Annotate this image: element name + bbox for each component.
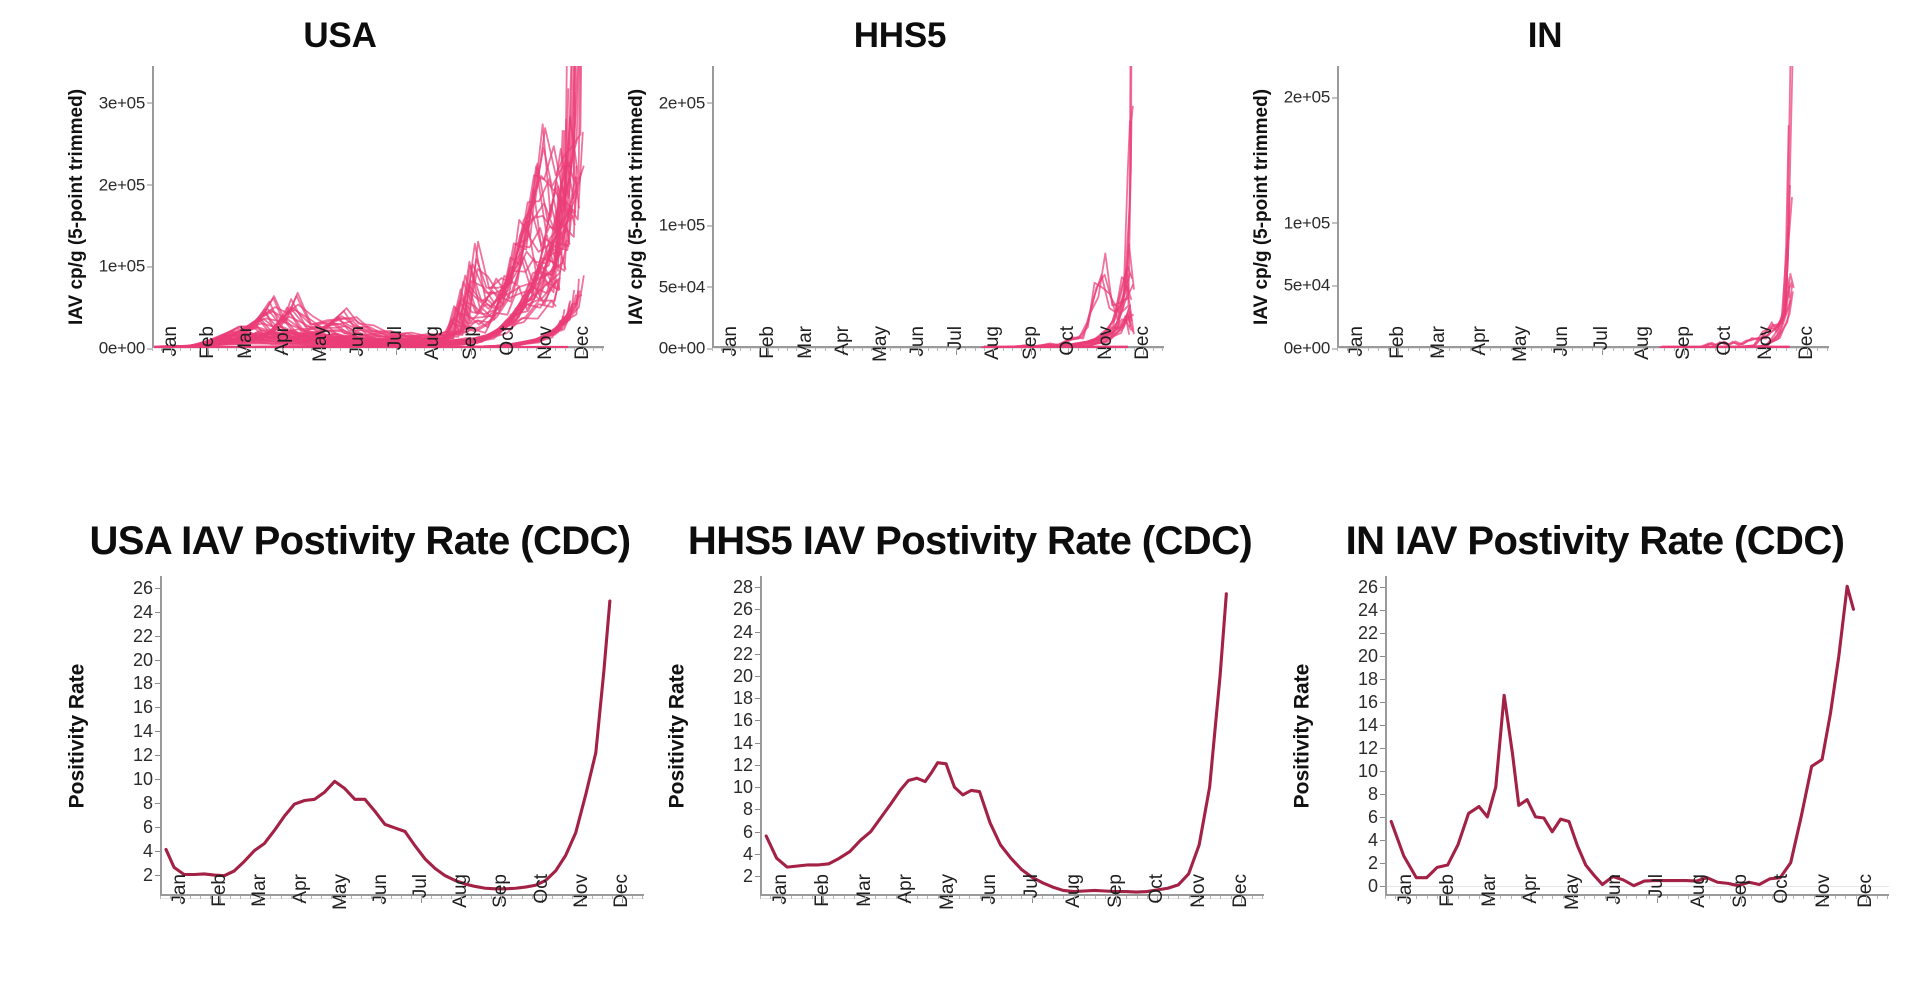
- x-tick-dec: Dec: [568, 356, 598, 382]
- x-minor-tick: [969, 896, 970, 899]
- x-tick-may: May: [306, 356, 336, 382]
- x-tick-label: May: [306, 326, 332, 386]
- positivity-rate-line: [166, 601, 610, 889]
- x-minor-tick: [1012, 348, 1013, 351]
- x-minor-tick: [1078, 348, 1079, 351]
- x-tick-jan: Jan: [1342, 356, 1372, 382]
- x-minor-tick: [1542, 896, 1543, 899]
- y-tick-label: 18: [733, 689, 760, 707]
- x-minor-tick: [1835, 896, 1836, 899]
- chart-title-hhs5-pos: HHS5 IAV Postivity Rate (CDC): [660, 520, 1280, 576]
- x-minor-tick: [433, 348, 434, 351]
- x-minor-tick: [632, 896, 633, 899]
- x-minor-tick: [1388, 348, 1389, 351]
- x-minor-tick: [959, 896, 960, 899]
- x-tick-aug: Aug: [446, 904, 476, 930]
- spaghetti-trace: [155, 66, 572, 347]
- x-minor-tick: [491, 896, 492, 899]
- x-tick-aug: Aug: [1628, 356, 1658, 382]
- x-minor-tick: [1657, 896, 1658, 899]
- y-tick-label: 2: [143, 866, 160, 884]
- x-minor-tick: [1615, 896, 1616, 899]
- x-minor-tick: [937, 348, 938, 351]
- plot-area-usa-ww: IAV cp/g (5-point trimmed)0e+001e+052e+0…: [60, 66, 620, 448]
- x-tick-label: Jul: [1642, 874, 1668, 934]
- x-minor-tick: [1735, 348, 1736, 351]
- y-tick-label: 5e+04: [1284, 277, 1337, 294]
- x-tick-label: Feb: [1383, 326, 1409, 386]
- x-minor-tick: [152, 348, 153, 351]
- x-minor-tick: [612, 896, 613, 899]
- x-tick-sep: Sep: [486, 904, 516, 930]
- axes-in-ww: [1337, 66, 1829, 348]
- x-tick-mar: Mar: [1424, 356, 1454, 382]
- x-minor-tick: [731, 348, 732, 351]
- y-tick-label: 16: [1358, 693, 1385, 711]
- x-minor-tick: [1500, 896, 1501, 899]
- x-tick-label: Mar: [850, 874, 876, 934]
- data-lines-hhs5-pos: [762, 576, 1264, 896]
- x-minor-tick: [341, 896, 342, 899]
- x-tick-mar: Mar: [245, 904, 275, 930]
- x-minor-tick: [1720, 896, 1721, 899]
- x-minor-tick: [1552, 896, 1553, 899]
- x-tick-may: May: [326, 904, 356, 930]
- x-minor-tick: [381, 896, 382, 899]
- x-minor-tick: [471, 896, 472, 899]
- y-tick-label: 6: [1368, 808, 1385, 826]
- x-tick-label: Apr: [828, 326, 854, 386]
- x-minor-tick: [1115, 348, 1116, 351]
- x-minor-tick: [1116, 896, 1117, 899]
- y-axis-ticks-usa-pos: 2468101214161820222426: [60, 576, 160, 896]
- x-tick-label: Apr: [1465, 326, 1491, 386]
- x-minor-tick: [1782, 896, 1783, 899]
- x-minor-tick: [161, 348, 162, 351]
- x-minor-tick: [1162, 348, 1163, 351]
- x-minor-tick: [1796, 348, 1797, 351]
- x-minor-tick: [552, 896, 553, 899]
- x-axis-ticks-in-ww: JanFebMarAprMayJunJulAugSepOctNovDec: [1337, 348, 1827, 418]
- data-lines-in-ww: [1339, 66, 1829, 348]
- x-tick-jun: Jun: [903, 356, 933, 382]
- x-minor-tick: [1357, 348, 1358, 351]
- x-minor-tick: [1776, 348, 1777, 351]
- x-tick-label: Nov: [1751, 326, 1777, 386]
- x-minor-tick: [1602, 348, 1603, 351]
- x-minor-tick: [311, 348, 312, 351]
- x-minor-tick: [1252, 896, 1253, 899]
- y-tick-label: 0: [1368, 877, 1385, 895]
- y-tick-label: 8: [743, 800, 760, 818]
- x-minor-tick: [227, 348, 228, 351]
- data-lines-usa-pos: [162, 576, 644, 896]
- x-minor-tick: [834, 348, 835, 351]
- x-tick-feb: Feb: [753, 356, 783, 382]
- x-tick-label: Oct: [1142, 874, 1168, 934]
- x-minor-tick: [622, 896, 623, 899]
- y-tick-label: 12: [133, 746, 160, 764]
- x-minor-tick: [311, 896, 312, 899]
- x-tick-label: Mar: [231, 326, 257, 386]
- x-tick-feb: Feb: [1383, 356, 1413, 382]
- x-minor-tick: [1551, 348, 1552, 351]
- x-minor-tick: [1573, 896, 1574, 899]
- x-minor-tick: [1439, 348, 1440, 351]
- x-tick-apr: Apr: [1465, 356, 1495, 382]
- x-tick-label: Sep: [1101, 874, 1127, 934]
- chart-title-usa-pos: USA IAV Postivity Rate (CDC): [60, 520, 660, 576]
- x-minor-tick: [532, 896, 533, 899]
- x-minor-tick: [1458, 896, 1459, 899]
- x-minor-tick: [1021, 896, 1022, 899]
- x-minor-tick: [1490, 348, 1491, 351]
- x-minor-tick: [1395, 896, 1396, 899]
- x-minor-tick: [160, 896, 161, 899]
- x-minor-tick: [371, 896, 372, 899]
- x-tick-label: Mar: [245, 874, 271, 934]
- x-minor-tick: [1793, 896, 1794, 899]
- x-minor-tick: [411, 896, 412, 899]
- x-minor-tick: [642, 896, 643, 899]
- x-minor-tick: [1694, 348, 1695, 351]
- x-minor-tick: [1241, 896, 1242, 899]
- x-minor-tick: [890, 348, 891, 351]
- x-minor-tick: [1594, 896, 1595, 899]
- x-minor-tick: [200, 896, 201, 899]
- x-minor-tick: [302, 348, 303, 351]
- y-tick-label: 22: [733, 645, 760, 663]
- x-minor-tick: [1563, 896, 1564, 899]
- x-minor-tick: [1126, 896, 1127, 899]
- x-tick-label: May: [1506, 326, 1532, 386]
- x-minor-tick: [1147, 896, 1148, 899]
- x-tick-dec: Dec: [1226, 904, 1256, 930]
- x-tick-may: May: [1558, 904, 1588, 930]
- x-tick-jul: Jul: [1017, 904, 1047, 930]
- x-tick-jun: Jun: [1547, 356, 1577, 382]
- y-tick-label: 26: [1358, 578, 1385, 596]
- y-tick-label: 16: [733, 711, 760, 729]
- x-minor-tick: [1562, 348, 1563, 351]
- x-minor-tick: [1827, 348, 1828, 351]
- x-minor-tick: [896, 896, 897, 899]
- x-tick-jun: Jun: [343, 356, 373, 382]
- x-tick-label: Jul: [1017, 874, 1043, 934]
- x-tick-feb: Feb: [1433, 904, 1463, 930]
- spaghetti-trace: [163, 66, 580, 347]
- x-minor-tick: [405, 348, 406, 351]
- x-minor-tick: [1347, 348, 1348, 351]
- x-minor-tick: [825, 348, 826, 351]
- plot-area-hhs5-pos: Positivity Rate246810121416182022242628J…: [660, 576, 1280, 991]
- x-tick-jun: Jun: [366, 904, 396, 930]
- chart-panel-usa-pos: USA IAV Postivity Rate (CDC)Positivity R…: [60, 520, 660, 990]
- x-minor-tick: [1042, 896, 1043, 899]
- x-minor-tick: [349, 348, 350, 351]
- chart-title-in-ww: IN: [1245, 18, 1845, 66]
- x-tick-mar: Mar: [791, 356, 821, 382]
- spaghetti-trace: [154, 88, 568, 347]
- x-minor-tick: [1756, 348, 1757, 351]
- x-tick-label: Apr: [1516, 874, 1542, 934]
- x-minor-tick: [1398, 348, 1399, 351]
- x-tick-jan: Jan: [716, 356, 746, 382]
- x-minor-tick: [984, 348, 985, 351]
- x-minor-tick: [1469, 896, 1470, 899]
- x-minor-tick: [1605, 896, 1606, 899]
- x-minor-tick: [236, 348, 237, 351]
- x-minor-tick: [778, 348, 779, 351]
- x-minor-tick: [806, 348, 807, 351]
- y-tick-label: 5e+04: [659, 278, 712, 295]
- x-minor-tick: [1125, 348, 1126, 351]
- x-minor-tick: [1715, 348, 1716, 351]
- spaghetti-trace: [1662, 185, 1790, 347]
- x-tick-oct: Oct: [1053, 356, 1083, 382]
- positivity-rate-line: [766, 594, 1226, 892]
- x-tick-label: Aug: [446, 874, 472, 934]
- y-tick-label: 28: [733, 578, 760, 596]
- x-minor-tick: [843, 348, 844, 351]
- x-minor-tick: [1449, 348, 1450, 351]
- x-minor-tick: [396, 348, 397, 351]
- x-tick-nov: Nov: [1751, 356, 1781, 382]
- x-tick-jul: Jul: [406, 904, 436, 930]
- x-axis-ticks-hhs5-ww: JanFebMarAprMayJunJulAugSepOctNovDec: [712, 348, 1162, 418]
- x-minor-tick: [1803, 896, 1804, 899]
- x-minor-tick: [1084, 896, 1085, 899]
- x-minor-tick: [1866, 896, 1867, 899]
- x-minor-tick: [250, 896, 251, 899]
- x-minor-tick: [875, 896, 876, 899]
- x-minor-tick: [844, 896, 845, 899]
- x-minor-tick: [260, 896, 261, 899]
- axes-hhs5-ww: [712, 66, 1164, 348]
- x-tick-apr: Apr: [1516, 904, 1546, 930]
- x-minor-tick: [1408, 348, 1409, 351]
- x-tick-label: Feb: [808, 874, 834, 934]
- x-minor-tick: [1448, 896, 1449, 899]
- x-minor-tick: [1068, 348, 1069, 351]
- x-minor-tick: [542, 896, 543, 899]
- x-minor-tick: [1189, 896, 1190, 899]
- x-tick-label: Jul: [406, 874, 432, 934]
- x-minor-tick: [1636, 896, 1637, 899]
- x-minor-tick: [361, 896, 362, 899]
- x-minor-tick: [368, 348, 369, 351]
- x-tick-oct: Oct: [527, 904, 557, 930]
- spaghetti-trace: [1663, 197, 1792, 347]
- x-minor-tick: [946, 348, 947, 351]
- x-tick-jul: Jul: [941, 356, 971, 382]
- x-minor-tick: [1623, 348, 1624, 351]
- x-tick-label: Dec: [1792, 326, 1818, 386]
- x-minor-tick: [401, 896, 402, 899]
- spaghetti-trace: [160, 66, 575, 346]
- x-minor-tick: [1050, 348, 1051, 351]
- x-minor-tick: [1684, 348, 1685, 351]
- x-minor-tick: [1521, 348, 1522, 351]
- x-tick-label: Jun: [975, 874, 1001, 934]
- x-minor-tick: [170, 896, 171, 899]
- y-tick-label: 1e+05: [99, 258, 152, 275]
- y-axis-ticks-in-ww: 0e+005e+041e+052e+05: [1245, 66, 1337, 348]
- x-minor-tick: [1817, 348, 1818, 351]
- x-minor-tick: [265, 348, 266, 351]
- x-minor-tick: [480, 348, 481, 351]
- x-minor-tick: [917, 896, 918, 899]
- x-tick-label: Sep: [456, 326, 482, 386]
- x-minor-tick: [330, 348, 331, 351]
- data-lines-usa-ww: [154, 66, 604, 348]
- x-minor-tick: [862, 348, 863, 351]
- x-minor-tick: [511, 896, 512, 899]
- x-tick-aug: Aug: [1059, 904, 1089, 930]
- chart-title-usa-ww: USA: [60, 18, 620, 66]
- x-minor-tick: [441, 896, 442, 899]
- x-tick-apr: Apr: [286, 904, 316, 930]
- x-minor-tick: [1416, 896, 1417, 899]
- x-minor-tick: [781, 896, 782, 899]
- x-minor-tick: [190, 348, 191, 351]
- x-minor-tick: [1063, 896, 1064, 899]
- x-tick-may: May: [866, 356, 896, 382]
- x-minor-tick: [340, 348, 341, 351]
- y-tick-label: 1e+05: [659, 217, 712, 234]
- x-minor-tick: [171, 348, 172, 351]
- x-minor-tick: [1582, 348, 1583, 351]
- y-tick-label: 12: [733, 756, 760, 774]
- x-tick-dec: Dec: [1851, 904, 1881, 930]
- x-minor-tick: [1653, 348, 1654, 351]
- x-tick-label: Dec: [1851, 874, 1877, 934]
- x-tick-label: Jan: [156, 326, 182, 386]
- x-minor-tick: [546, 348, 547, 351]
- x-minor-tick: [1406, 896, 1407, 899]
- x-tick-label: Jan: [1391, 874, 1417, 934]
- x-tick-label: Jun: [366, 874, 392, 934]
- x-minor-tick: [281, 896, 282, 899]
- x-tick-label: Oct: [1710, 326, 1736, 386]
- y-tick-label: 0e+00: [1284, 340, 1337, 357]
- x-minor-tick: [1786, 348, 1787, 351]
- x-tick-feb: Feb: [808, 904, 838, 930]
- x-minor-tick: [740, 348, 741, 351]
- x-tick-label: Apr: [286, 874, 312, 934]
- x-tick-label: Mar: [791, 326, 817, 386]
- x-tick-label: Sep: [486, 874, 512, 934]
- x-tick-mar: Mar: [850, 904, 880, 930]
- x-minor-tick: [1087, 348, 1088, 351]
- x-minor-tick: [1646, 896, 1647, 899]
- spaghetti-trace: [160, 66, 576, 346]
- x-minor-tick: [1541, 348, 1542, 351]
- x-tick-label: May: [326, 874, 352, 934]
- y-tick-label: 10: [133, 770, 160, 788]
- x-minor-tick: [833, 896, 834, 899]
- x-minor-tick: [1168, 896, 1169, 899]
- y-tick-label: 14: [1358, 716, 1385, 734]
- x-minor-tick: [975, 348, 976, 351]
- x-tick-jul: Jul: [1642, 904, 1672, 930]
- x-tick-label: May: [866, 326, 892, 386]
- y-tick-label: 2: [743, 867, 760, 885]
- x-tick-label: Sep: [1016, 326, 1042, 386]
- y-axis-ticks-hhs5-pos: 246810121416182022242628: [660, 576, 760, 896]
- x-minor-tick: [592, 896, 593, 899]
- x-axis-ticks-usa-ww: JanFebMarAprMayJunJulAugSepOctNovDec: [152, 348, 602, 418]
- x-tick-oct: Oct: [1710, 356, 1740, 382]
- x-minor-tick: [965, 348, 966, 351]
- x-minor-tick: [815, 348, 816, 351]
- x-minor-tick: [1584, 896, 1585, 899]
- x-minor-tick: [1643, 348, 1644, 351]
- y-axis-ticks-in-pos: 02468101214161820222426: [1285, 576, 1385, 896]
- x-minor-tick: [1427, 896, 1428, 899]
- x-minor-tick: [274, 348, 275, 351]
- x-minor-tick: [377, 348, 378, 351]
- x-minor-tick: [1143, 348, 1144, 351]
- x-minor-tick: [1531, 896, 1532, 899]
- x-minor-tick: [527, 348, 528, 351]
- x-minor-tick: [220, 896, 221, 899]
- x-tick-label: May: [1558, 874, 1584, 934]
- x-minor-tick: [1741, 896, 1742, 899]
- x-tick-feb: Feb: [193, 356, 223, 382]
- x-tick-label: Jun: [903, 326, 929, 386]
- x-tick-label: Oct: [527, 874, 553, 934]
- y-tick-label: 24: [1358, 601, 1385, 619]
- x-minor-tick: [881, 348, 882, 351]
- plot-area-hhs5-ww: IAV cp/g (5-point trimmed)0e+005e+041e+0…: [620, 66, 1180, 448]
- x-minor-tick: [1220, 896, 1221, 899]
- y-tick-label: 6: [143, 818, 160, 836]
- x-minor-tick: [1511, 348, 1512, 351]
- x-minor-tick: [787, 348, 788, 351]
- x-tick-label: Jun: [1600, 874, 1626, 934]
- x-tick-label: Nov: [1091, 326, 1117, 386]
- x-minor-tick: [522, 896, 523, 899]
- x-minor-tick: [1814, 896, 1815, 899]
- y-tick-label: 18: [133, 674, 160, 692]
- axes-hhs5-pos: [760, 576, 1264, 896]
- y-tick-label: 20: [1358, 647, 1385, 665]
- x-tick-label: Dec: [607, 874, 633, 934]
- x-minor-tick: [321, 348, 322, 351]
- x-minor-tick: [501, 896, 502, 899]
- x-minor-tick: [1521, 896, 1522, 899]
- x-minor-tick: [1511, 896, 1512, 899]
- x-minor-tick: [331, 896, 332, 899]
- x-tick-jun: Jun: [1600, 904, 1630, 930]
- x-minor-tick: [990, 896, 991, 899]
- x-tick-nov: Nov: [1184, 904, 1214, 930]
- x-minor-tick: [1664, 348, 1665, 351]
- x-minor-tick: [1074, 896, 1075, 899]
- x-minor-tick: [1095, 896, 1096, 899]
- x-tick-label: Oct: [1767, 874, 1793, 934]
- x-tick-dec: Dec: [607, 904, 637, 930]
- x-tick-label: Apr: [268, 326, 294, 386]
- y-tick-label: 24: [133, 603, 160, 621]
- x-minor-tick: [358, 348, 359, 351]
- x-tick-label: Jun: [1547, 326, 1573, 386]
- x-tick-label: Jul: [941, 326, 967, 386]
- x-tick-oct: Oct: [1142, 904, 1172, 930]
- x-minor-tick: [1667, 896, 1668, 899]
- x-tick-apr: Apr: [891, 904, 921, 930]
